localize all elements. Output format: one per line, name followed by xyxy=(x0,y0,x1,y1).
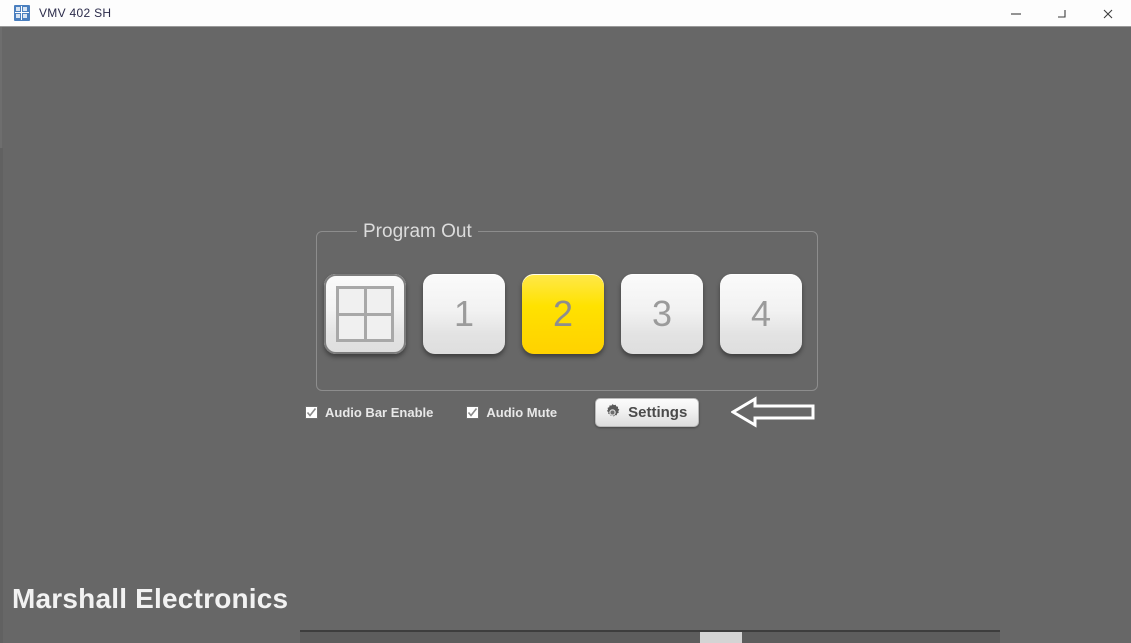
restore-button[interactable] xyxy=(1039,0,1085,27)
program-out-button-4-label: 4 xyxy=(751,293,771,335)
quad-split-icon xyxy=(336,286,394,342)
window-title: VMV 402 SH xyxy=(39,6,111,20)
program-out-button-3-label: 3 xyxy=(652,293,672,335)
settings-button[interactable]: Settings xyxy=(595,398,699,427)
title-bar: VMV 402 SH xyxy=(0,0,1131,27)
audio-bar-enable-checkbox[interactable]: Audio Bar Enable xyxy=(305,405,433,420)
checkmark-icon xyxy=(467,407,478,418)
left-arrow-icon xyxy=(731,394,815,430)
bottom-strip xyxy=(300,630,1000,643)
annotation-arrow-left xyxy=(731,394,815,430)
close-icon xyxy=(1102,8,1114,20)
program-out-button-1[interactable]: 1 xyxy=(423,274,505,354)
audio-bar-enable-label: Audio Bar Enable xyxy=(325,405,433,420)
controls-row: Audio Bar Enable Audio Mute Settings xyxy=(305,394,815,430)
app-icon xyxy=(14,5,30,21)
settings-button-label: Settings xyxy=(628,404,687,421)
program-out-button-3[interactable]: 3 xyxy=(621,274,703,354)
bottom-strip-tab xyxy=(700,632,742,643)
title-bar-left: VMV 402 SH xyxy=(0,0,111,26)
checkmark-icon xyxy=(306,407,317,418)
window-left-edge-lower xyxy=(0,148,3,643)
application-window: VMV 402 SH Progra xyxy=(0,0,1131,643)
restore-icon xyxy=(1056,8,1068,20)
minimize-button[interactable] xyxy=(993,0,1039,27)
program-out-button-quad[interactable] xyxy=(324,274,406,354)
window-controls xyxy=(993,0,1131,27)
program-out-title-mask: Program Out xyxy=(357,223,478,241)
audio-mute-checkbox[interactable]: Audio Mute xyxy=(466,405,557,420)
minimize-icon xyxy=(1010,8,1022,20)
audio-bar-enable-checkbox-box[interactable] xyxy=(305,406,318,419)
program-out-button-1-label: 1 xyxy=(454,293,474,335)
audio-mute-checkbox-box[interactable] xyxy=(466,406,479,419)
program-out-title: Program Out xyxy=(363,221,472,242)
audio-mute-label: Audio Mute xyxy=(486,405,557,420)
close-button[interactable] xyxy=(1085,0,1131,27)
gear-icon xyxy=(603,403,622,422)
branding-text: Marshall Electronics xyxy=(12,583,288,615)
program-out-button-row: 1 2 3 4 xyxy=(324,274,802,354)
program-out-button-4[interactable]: 4 xyxy=(720,274,802,354)
program-out-button-2-label: 2 xyxy=(553,293,573,335)
program-out-button-2[interactable]: 2 xyxy=(522,274,604,354)
